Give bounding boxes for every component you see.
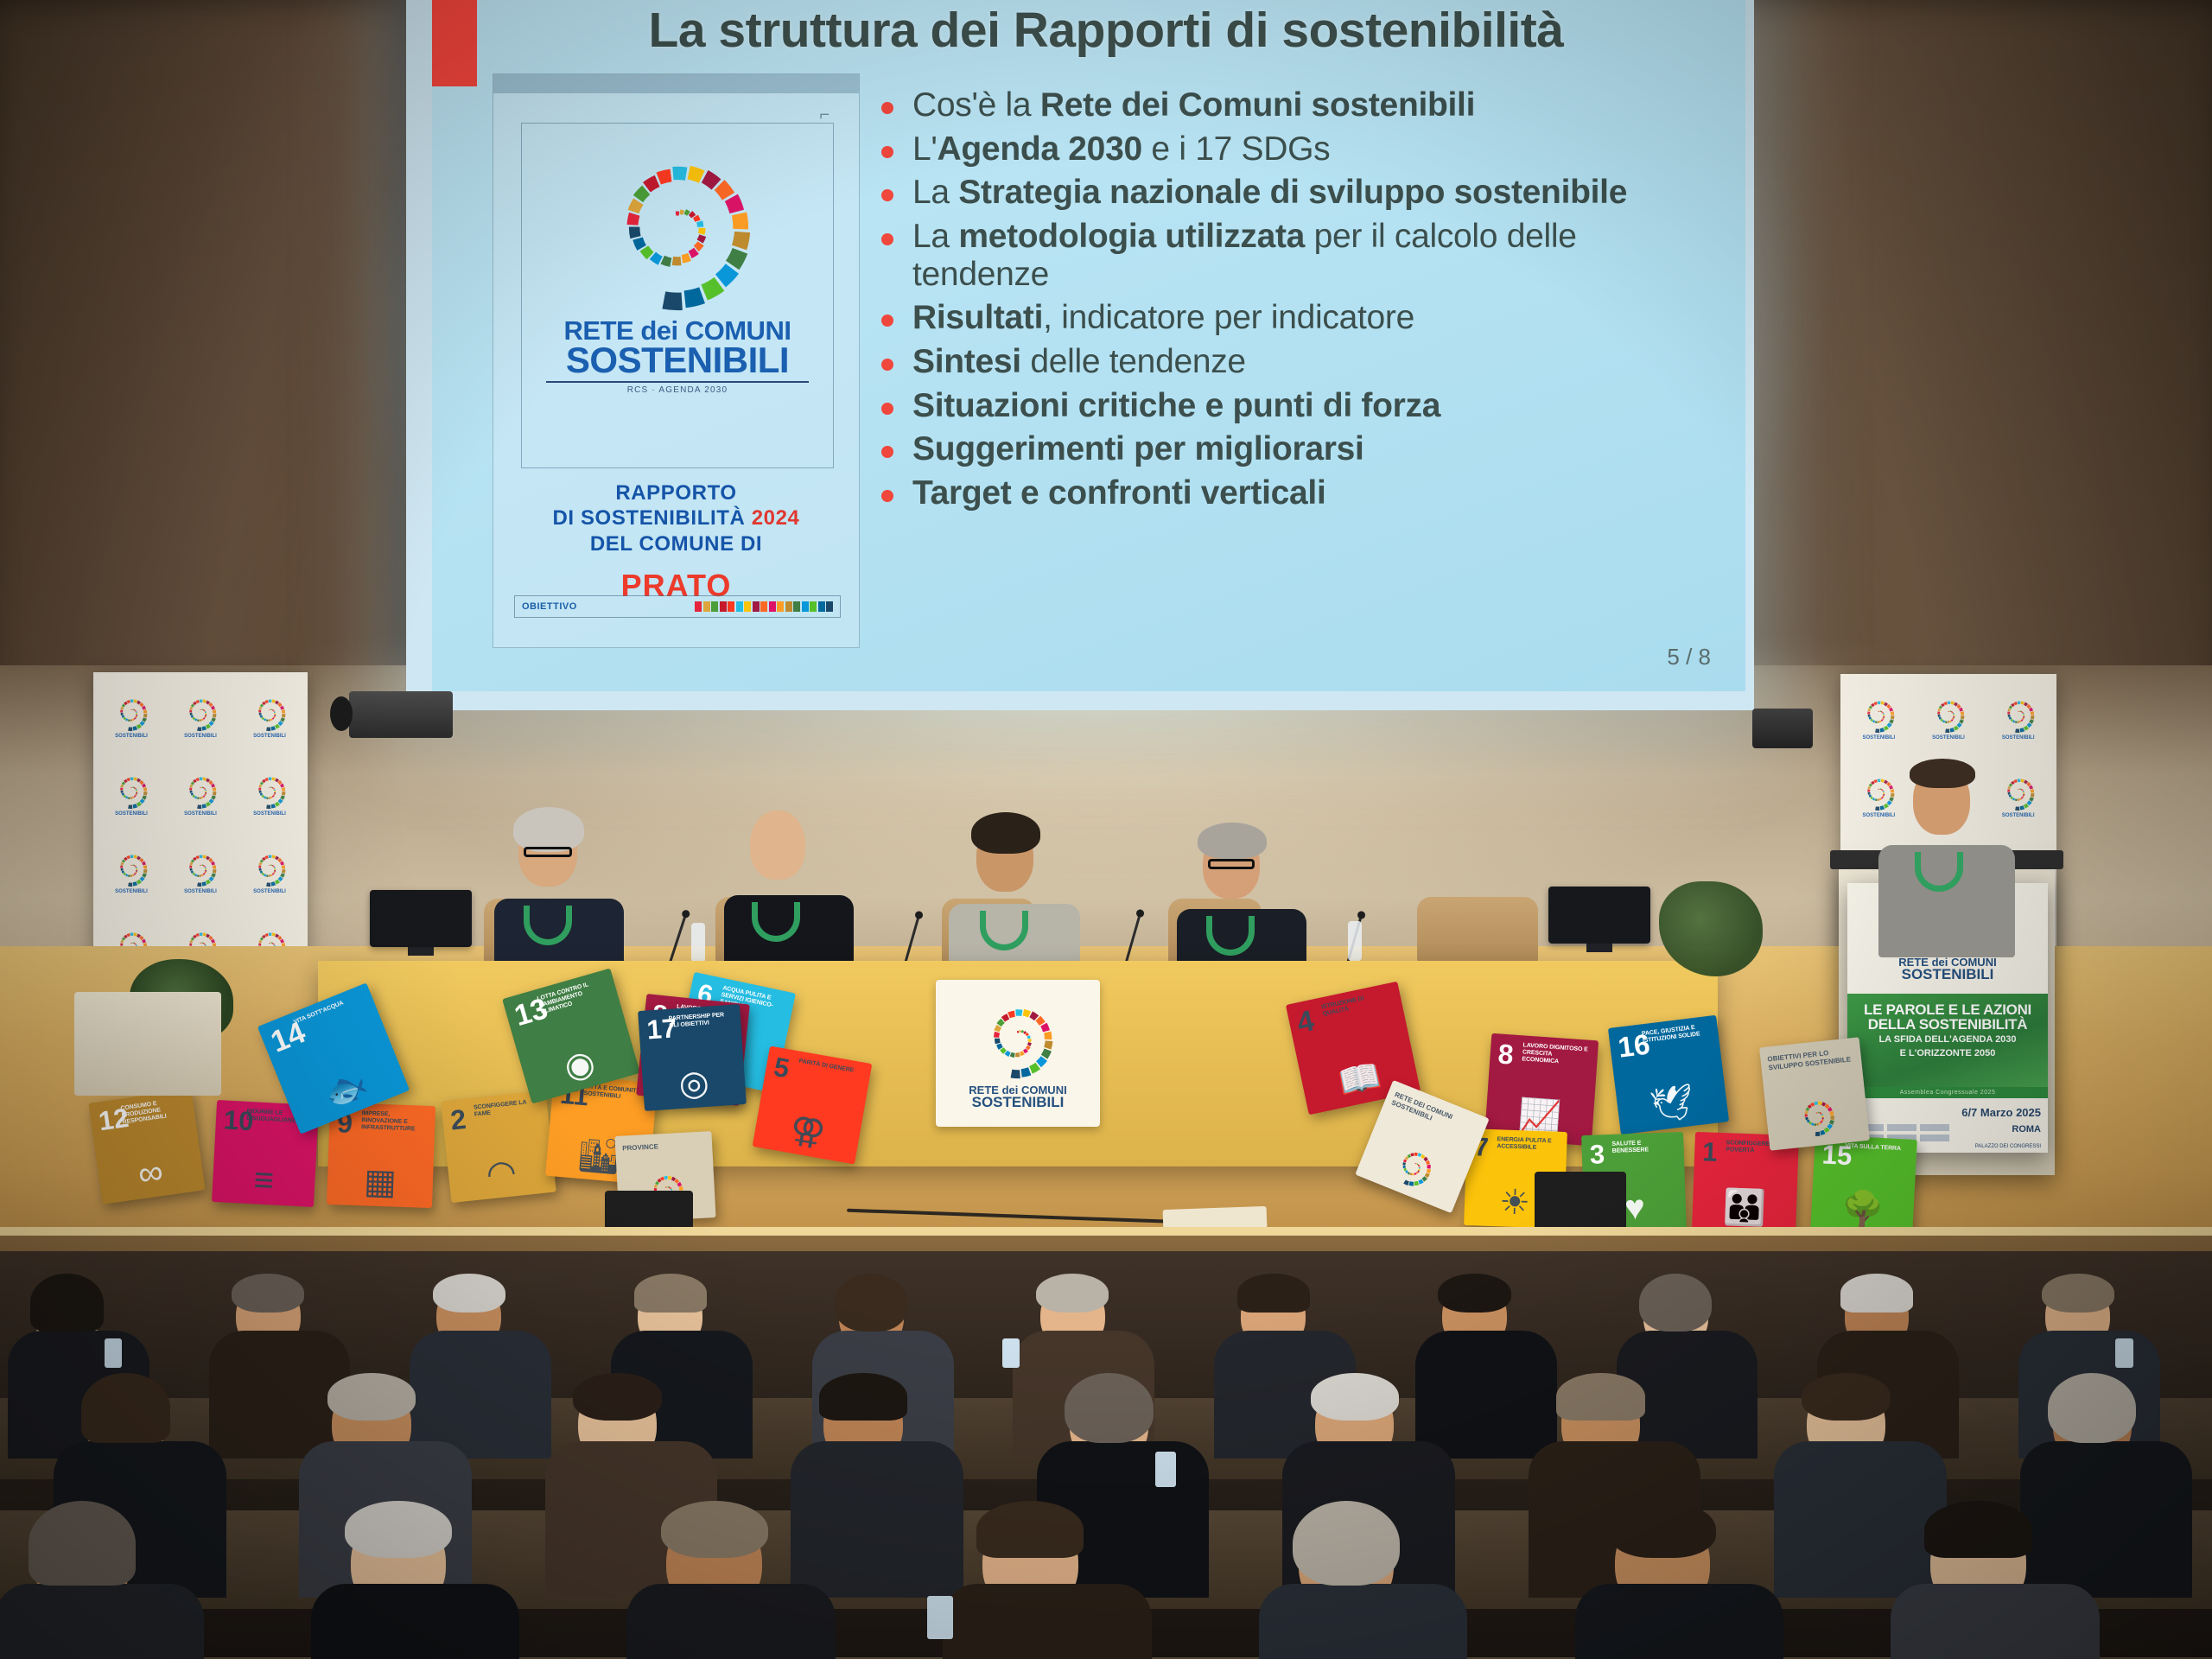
slide-bullet-4: La metodologia utilizzata per il calcolo… <box>881 218 1711 293</box>
audience-member-body <box>626 1584 836 1659</box>
sdg-swatch <box>728 601 734 612</box>
audience-member-hair <box>1438 1274 1510 1313</box>
sdg-cube-16-13: 16PACE, GIUSTIZIA E ISTITUZIONI SOLIDE🕊 <box>1608 1015 1729 1135</box>
cover-title-text: RAPPORTO DI SOSTENIBILITÀ 2024 DEL COMUN… <box>493 480 859 605</box>
event-headline-line1: LE PAROLE E LE AZIONI <box>1854 1002 2041 1017</box>
sdg-cube-label: PARITÀ DI GENERE <box>798 1058 862 1077</box>
backdrop-logo-tile: SOSTENIBILI <box>1846 759 1912 833</box>
backdrop-logo-label: SOSTENIBILI <box>1932 735 1965 741</box>
projector-right <box>1752 709 1813 748</box>
speaker-hair <box>1910 759 1975 788</box>
rcs-spiral-icon-tile <box>1859 696 1897 734</box>
audience-member-hair <box>1609 1501 1716 1559</box>
panelist-2-head <box>750 810 805 880</box>
cover-line3: DEL COMUNE DI <box>493 531 859 556</box>
panelist-3-hair <box>971 812 1040 854</box>
audience-phone-screen <box>927 1596 953 1640</box>
rcs-spiral-icon-tile <box>1999 773 2037 811</box>
backdrop-logo-tile: SOSTENIBILI <box>237 679 302 753</box>
audience-member-body <box>1575 1584 1784 1659</box>
backdrop-logo-label: SOSTENIBILI <box>1862 813 1895 818</box>
sdg-cube-number: 2 <box>449 1105 467 1135</box>
slide-accent-bar <box>432 0 477 86</box>
backdrop-logo-tile: SOSTENIBILI <box>1985 681 2051 755</box>
cover-year: 2024 <box>752 506 800 530</box>
audience-member-hair <box>1036 1274 1109 1313</box>
audience-member-hair <box>1840 1274 1913 1313</box>
slide-bullet-6: Sintesi delle tendenze <box>881 343 1711 381</box>
audience-member <box>1299 1510 1394 1614</box>
audience-member <box>839 1281 904 1351</box>
sdg-swatch <box>736 601 743 612</box>
audience-member-body <box>791 1441 963 1598</box>
backdrop-logo-tile: SOSTENIBILI <box>168 757 233 831</box>
slide-bullet-7: Situazioni critiche e punti di forza <box>881 387 1711 425</box>
audience-member <box>1643 1281 1708 1351</box>
sdg-cube-label: PARTNERSHIP PER GLI OBIETTIVI <box>669 1012 733 1030</box>
bullet-text: L'Agenda 2030 e i 17 SDGs <box>912 130 1330 168</box>
cover-line2: DI SOSTENIBILITÀ <box>552 506 745 530</box>
sponsor-logo <box>1920 1124 1949 1131</box>
audience-member-body <box>943 1584 1152 1659</box>
rcs-spiral-icon-tile <box>1859 773 1897 811</box>
slide-bullet-list: Cos'è la Rete dei Comuni sostenibiliL'Ag… <box>881 86 1711 518</box>
audience-member-hair <box>634 1274 707 1313</box>
audience-member <box>638 1281 702 1351</box>
backdrop-logo-label: SOSTENIBILI <box>253 889 286 894</box>
sdg-cube-glyph-icon: ◠ <box>485 1154 518 1192</box>
sdg-cube-9-2: 9IMPRESE, INNOVAZIONE E INFRASTRUTTURE▦ <box>327 1103 435 1208</box>
bullet-text: Situazioni critiche e punti di forza <box>912 387 1440 425</box>
audience-member <box>236 1281 301 1351</box>
sdg-cube-number: 1 <box>1702 1138 1718 1166</box>
bullet-dot-icon <box>881 359 893 371</box>
audience-member <box>1561 1381 1640 1466</box>
rcs-spiral-icon-tile <box>1999 696 2037 734</box>
backdrop-logo-tile: SOSTENIBILI <box>237 835 302 909</box>
rcs-spiral-icon-cube <box>1387 1140 1440 1193</box>
cover-line2-row: DI SOSTENIBILITÀ 2024 <box>493 505 859 531</box>
event-headline-line2: DELLA SOSTENIBILITÀ <box>1854 1017 2041 1032</box>
sdg-swatch <box>793 601 800 612</box>
backdrop-logo-label: SOSTENIBILI <box>184 811 217 817</box>
backdrop-logo-label: SOSTENIBILI <box>253 734 286 739</box>
panelist-3 <box>976 823 1033 892</box>
sdg-color-strip <box>695 601 833 612</box>
sdg-swatch <box>826 601 833 612</box>
audience-member <box>436 1281 501 1351</box>
sdg-cube-label: PACE, GIUSTIZIA E ISTITUZIONI SOLIDE <box>1642 1023 1710 1045</box>
sdg-cube-label: IMPRESE, INNOVAZIONE E INFRASTRUTTURE <box>361 1110 428 1133</box>
sdg-cube-glyph-icon: ≡ <box>253 1162 275 1198</box>
audience-member <box>1845 1281 1910 1351</box>
presentation-slide: La struttura dei Rapporti di sostenibili… <box>432 0 1745 691</box>
slide-title: La struttura dei Rapporti di sostenibili… <box>510 2 1702 59</box>
sdg-cube-glyph-icon: ∞ <box>136 1154 165 1192</box>
sdg-cube-5-10: 5PARITÀ DI GENERE⚢ <box>753 1046 873 1164</box>
sdg-cube-number: 8 <box>1497 1039 1515 1068</box>
rcs-spiral-icon-tile <box>251 849 289 887</box>
monitor-left <box>370 890 472 947</box>
bullet-text: Target e confronti verticali <box>912 474 1326 512</box>
audience-member <box>1315 1381 1394 1466</box>
event-date: 6/7 Marzo 2025 <box>1961 1106 2041 1119</box>
backdrop-logo-label: SOSTENIBILI <box>253 811 286 817</box>
sdg-swatch <box>818 601 825 612</box>
audience-member <box>1807 1381 1885 1466</box>
sdg-cube-label: ENERGIA PULITA E ACCESSIBILE <box>1497 1136 1560 1152</box>
sdg-cube-glyph-icon: ⚢ <box>787 1111 828 1151</box>
sdg-cube-logo-18: OBIETTIVI PER LO SVILUPPO SOSTENIBILE <box>1759 1037 1870 1150</box>
backdrop-logo-label: SOSTENIBILI <box>184 889 217 894</box>
backdrop-logo-tile: SOSTENIBILI <box>99 679 164 753</box>
audience-member-body <box>1415 1331 1557 1459</box>
cover-top-bar <box>493 74 859 93</box>
audience-member-hair <box>433 1274 505 1313</box>
audience-member-hair <box>976 1501 1084 1559</box>
event-place: ROMA <box>2012 1124 2041 1135</box>
audience-member-body <box>0 1584 204 1659</box>
chair-empty-1 <box>1417 897 1538 964</box>
audience-member-body <box>1259 1584 1468 1659</box>
rcs-spiral-icon-tile <box>181 694 219 732</box>
sdg-swatch <box>769 601 776 612</box>
rcs-spiral-icon-tile <box>181 772 219 810</box>
audience-phone-screen <box>2115 1338 2133 1368</box>
backdrop-logo-label: SOSTENIBILI <box>2002 813 2035 818</box>
event-banner-headline-block: LE PAROLE E LE AZIONI DELLA SOSTENIBILIT… <box>1847 994 2048 1087</box>
audience-member-hair <box>81 1373 170 1444</box>
sdg-swatch <box>711 601 718 612</box>
sponsor-logo <box>1887 1124 1916 1131</box>
bullet-dot-icon <box>881 490 893 502</box>
event-date-block: 6/7 Marzo 2025 ROMA PALAZZO DEI CONGRESS… <box>1961 1105 2041 1152</box>
audience-member-hair <box>1311 1373 1400 1421</box>
panelist-4 <box>1203 831 1260 899</box>
rcs-spiral-icon-tile <box>251 772 289 810</box>
sdg-swatch <box>753 601 760 612</box>
bullet-dot-icon <box>881 446 893 458</box>
bullet-dot-icon <box>881 146 893 158</box>
sdg-swatch <box>802 601 809 612</box>
side-table <box>74 992 221 1096</box>
sdg-swatch <box>695 601 702 612</box>
sdg-swatch <box>744 601 751 612</box>
audience-member <box>2045 1281 2110 1351</box>
rcs-spiral-icon-tile <box>1929 696 1967 734</box>
backdrop-logo-label: SOSTENIBILI <box>184 734 217 739</box>
cover-footer: OBIETTIVO <box>514 595 841 618</box>
podium-speaker <box>1913 766 1970 835</box>
bullet-text: Risultati, indicatore per indicatore <box>912 299 1414 337</box>
water-bottle-1 <box>691 923 705 963</box>
sdg-cube-glyph-icon: ◉ <box>560 1045 599 1086</box>
slide-bullet-1: Cos'è la Rete dei Comuni sostenibili <box>881 86 1711 124</box>
slide-bullet-9: Target e confronti verticali <box>881 474 1711 512</box>
audience-member-hair <box>1237 1274 1310 1313</box>
event-venue: PALAZZO DEI CONGRESSI <box>1975 1144 2041 1149</box>
rcs-spiral-icon-tile <box>112 772 150 810</box>
audience-member-hair <box>345 1501 452 1559</box>
audience-member-hair <box>30 1274 103 1332</box>
sponsor-logo <box>1920 1135 1949 1141</box>
audience-member <box>351 1510 446 1614</box>
rcs-spiral-icon-tile <box>181 849 219 887</box>
rcs-spiral-icon-cube <box>1794 1093 1840 1139</box>
audience-member-body <box>1774 1441 1947 1598</box>
sdg-cube-label: VITA SULLA TERRA <box>1845 1143 1908 1154</box>
slide-bullet-5: Risultati, indicatore per indicatore <box>881 299 1711 337</box>
rcs-spiral-icon-tile <box>112 849 150 887</box>
sdg-cube-glyph-icon: ☀ <box>1498 1185 1530 1220</box>
audience-member <box>1442 1281 1507 1351</box>
backdrop-logo-tile: SOSTENIBILI <box>168 835 233 909</box>
water-bottle-2 <box>1348 921 1362 961</box>
audience-member-hair <box>2048 1373 2137 1444</box>
audience-member <box>332 1381 410 1466</box>
audience-member <box>823 1381 902 1466</box>
audience-member <box>666 1510 761 1614</box>
sdg-cube-glyph-icon: 📖 <box>1335 1058 1384 1100</box>
audience-member-body <box>1891 1584 2100 1659</box>
bullet-text: Cos'è la Rete dei Comuni sostenibili <box>912 86 1475 124</box>
bullet-dot-icon <box>881 233 893 245</box>
rcs-logo-line2: SOSTENIBILI <box>522 343 833 378</box>
rcs-spiral-icon-plate <box>976 997 1059 1080</box>
cover-line1: RAPPORTO <box>493 480 859 505</box>
audience-area <box>0 1251 2212 1659</box>
sdg-cube-number: 4 <box>1294 1006 1317 1038</box>
rcs-logo: RETE dei COMUNI SOSTENIBILI RCS · AGENDA… <box>522 141 833 395</box>
sdg-cube-glyph-icon: ◎ <box>677 1065 710 1102</box>
backdrop-logo-label: SOSTENIBILI <box>115 734 148 739</box>
audience-phone-screen <box>1002 1338 1020 1368</box>
audience-member-hair <box>1556 1373 1645 1421</box>
sdg-cube-glyph-icon: ▦ <box>363 1164 397 1199</box>
sdg-cube-label: OBIETTIVI PER LO SVILUPPO SOSTENIBILE <box>1767 1046 1854 1072</box>
audience-member-body <box>311 1584 520 1659</box>
audience-member-body <box>410 1331 551 1459</box>
backdrop-logo-tile: SOSTENIBILI <box>1985 759 2051 833</box>
backdrop-logo-tile: SOSTENIBILI <box>99 835 164 909</box>
backdrop-logo-label: SOSTENIBILI <box>1862 735 1895 741</box>
sdg-cube-glyph-icon: ♥ <box>1624 1191 1645 1226</box>
audience-member-hair <box>819 1373 908 1421</box>
audience-member-hair <box>1065 1373 1154 1444</box>
bullet-dot-icon <box>881 403 893 415</box>
sdg-swatch <box>720 601 727 612</box>
sdg-cube-label: PROVINCE <box>622 1141 705 1154</box>
sdg-cube-label: LAVORO DIGNITOSO E CRESCITA ECONOMICA <box>1522 1042 1589 1067</box>
backdrop-logo-tile: SOSTENIBILI <box>168 679 233 753</box>
audience-member-hair <box>1802 1373 1891 1421</box>
audience-member <box>1615 1510 1710 1614</box>
monitor-right <box>1548 887 1650 944</box>
event-subline-1: LA SFIDA DELL'AGENDA 2030 <box>1854 1035 2041 1046</box>
backdrop-logo-label: SOSTENIBILI <box>2002 735 2035 741</box>
sdg-swatch <box>703 601 710 612</box>
rcs-spiral-icon-tile <box>112 694 150 732</box>
audience-member-body <box>2020 1441 2193 1598</box>
rcs-logo-text: RETE dei COMUNI SOSTENIBILI <box>522 318 833 378</box>
cover-logo-frame: RETE dei COMUNI SOSTENIBILI RCS · AGENDA… <box>521 123 834 468</box>
audience-member <box>1930 1510 2025 1614</box>
table-plate-line2: SOSTENIBILI <box>969 1096 1066 1109</box>
sdg-cube-label: CONSUMO E PRODUZIONE RESPONSABILI <box>120 1097 187 1127</box>
sdg-cube-number: 5 <box>772 1053 791 1083</box>
sdg-cube-number: 3 <box>1589 1141 1605 1168</box>
sdg-cube-15-17: 15VITA SULLA TERRA🌳 <box>1810 1135 1917 1236</box>
sdg-cube-label: SALUTE E BENESSERE <box>1611 1139 1675 1154</box>
rcs-logo-rule <box>546 381 809 383</box>
audience-phone-screen <box>105 1338 122 1368</box>
panelist-4-glasses-icon <box>1208 859 1255 869</box>
event-strip: Assemblea Congressuale 2025 <box>1847 1087 2048 1098</box>
audience-member <box>35 1281 99 1351</box>
panelist-1 <box>518 816 577 887</box>
audience-member-hair <box>327 1373 416 1421</box>
audience-member-hair <box>573 1373 662 1421</box>
bullet-dot-icon <box>881 315 893 327</box>
slide-page-number: 5 / 8 <box>1667 644 1711 671</box>
audience-member-hair <box>1924 1501 2031 1559</box>
bullet-text: Sintesi delle tendenze <box>912 343 1246 381</box>
sdg-cube-glyph-icon: 🐟 <box>320 1065 372 1114</box>
panelist-4-hair <box>1198 823 1267 859</box>
audience-member-hair <box>232 1274 304 1313</box>
backdrop-logo-tile: SOSTENIBILI <box>1846 681 1912 755</box>
backdrop-logo-label: SOSTENIBILI <box>115 811 148 817</box>
sdg-swatch <box>810 601 817 612</box>
sdg-cube-glyph-icon: 🌳 <box>1840 1192 1885 1229</box>
audience-member <box>1040 1281 1105 1351</box>
sdg-cube-17-9: 17PARTNERSHIP PER GLI OBIETTIVI◎ <box>638 1004 747 1111</box>
bullet-text: Suggerimenti per migliorarsi <box>912 430 1364 468</box>
audience-member-hair <box>2042 1274 2114 1313</box>
sdg-cube-glyph-icon: 🕊 <box>1649 1084 1696 1124</box>
backdrop-logo-label: SOSTENIBILI <box>115 889 148 894</box>
audience-member <box>1070 1381 1148 1466</box>
audience-member <box>35 1510 130 1614</box>
event-banner-logo-text: RETE dei COMUNI SOSTENIBILI <box>1898 957 1996 982</box>
audience-member-hair <box>29 1501 136 1586</box>
audience-member <box>982 1510 1077 1614</box>
slide-bullet-8: Suggerimenti per migliorarsi <box>881 430 1711 468</box>
panelist-1-glasses-icon <box>524 847 572 857</box>
sdg-cube-glyph-icon: 👪 <box>1722 1190 1766 1226</box>
backdrop-logo-tile: SOSTENIBILI <box>99 757 164 831</box>
conference-photo: La struttura dei Rapporti di sostenibili… <box>0 0 2212 1659</box>
backdrop-logo-tile: SOSTENIBILI <box>1916 681 1982 755</box>
slide-bullet-3: La Strategia nazionale di sviluppo soste… <box>881 174 1711 212</box>
sdg-cube-label: SCONFIGGERE LA FAME <box>474 1098 540 1119</box>
sdg-swatch <box>760 601 767 612</box>
sdg-swatch <box>785 601 792 612</box>
slide-bullet-2: L'Agenda 2030 e i 17 SDGs <box>881 130 1711 168</box>
bullet-dot-icon <box>881 189 893 201</box>
rcs-logo-subtitle: RCS · AGENDA 2030 <box>522 385 833 395</box>
audience-member <box>578 1381 657 1466</box>
rcs-spiral-icon-tile <box>251 694 289 732</box>
table-logo-plate: RETE dei COMUNI SOSTENIBILI <box>936 980 1100 1127</box>
audience-member-hair <box>1639 1274 1712 1332</box>
bullet-text: La Strategia nazionale di sviluppo soste… <box>912 174 1627 212</box>
bullet-dot-icon <box>881 102 893 114</box>
backdrop-logo-tile: SOSTENIBILI <box>237 757 302 831</box>
report-cover-card: RETE dei COMUNI SOSTENIBILI RCS · AGENDA… <box>493 73 860 648</box>
audience-member-hair <box>661 1501 768 1559</box>
audience-member <box>2053 1381 2132 1466</box>
event-logo-line2: SOSTENIBILI <box>1898 968 1996 982</box>
audience-member <box>86 1381 165 1466</box>
panelist-1-hair <box>513 807 584 852</box>
audience-phone-screen <box>1155 1452 1177 1488</box>
rcs-spiral-icon <box>591 141 764 314</box>
sdg-swatch <box>777 601 784 612</box>
audience-member <box>1241 1281 1306 1351</box>
projector-left <box>349 691 453 738</box>
table-plate-text: RETE dei COMUNI SOSTENIBILI <box>969 1085 1066 1109</box>
obiettivo-logo-text: OBIETTIVO <box>522 601 577 612</box>
bullet-text: La metodologia utilizzata per il calcolo… <box>912 218 1711 293</box>
event-subline-2: E L'ORIZZONTE 2050 <box>1854 1049 2041 1059</box>
audience-member-hair <box>835 1274 907 1332</box>
corner-mark-icon: ⌐ <box>819 105 829 125</box>
sdg-cube-2-3: 2SCONFIGGERE LA FAME◠ <box>441 1090 556 1203</box>
sdg-cube-12-0: 12CONSUMO E PRODUZIONE RESPONSABILI∞ <box>88 1089 205 1205</box>
panelist-2 <box>750 810 805 880</box>
audience-member-hair <box>1293 1501 1400 1586</box>
